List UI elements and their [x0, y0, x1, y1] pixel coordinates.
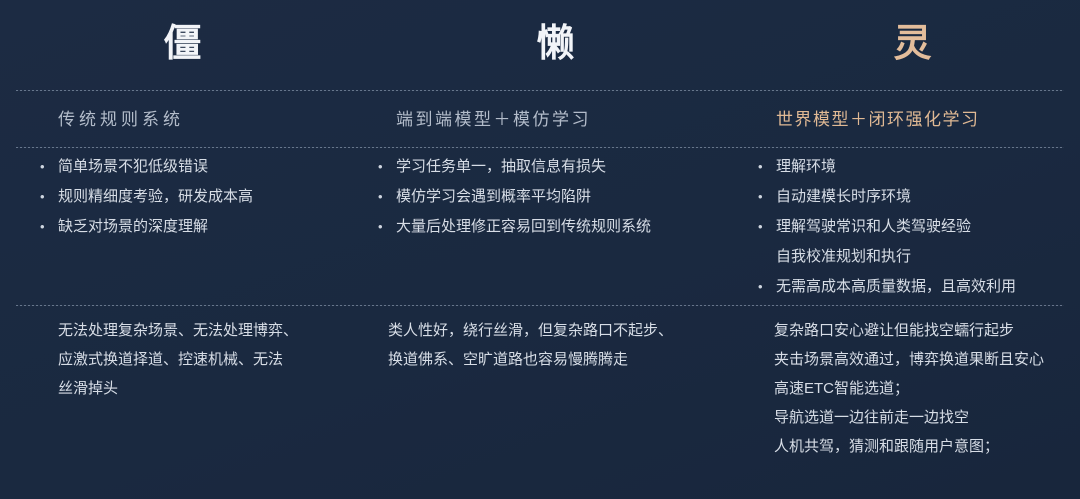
column-subhead-2: 端到端模型＋模仿学习 [366, 100, 746, 144]
bullet-dot-icon: • [378, 152, 396, 182]
summary-line: 换道佛系、空旷道路也容易慢腾腾走 [388, 345, 746, 374]
bullet-list-2: • 学习任务单一，抽取信息有损失 • 模仿学习会遇到概率平均陷阱 • 大量后处理… [366, 152, 746, 302]
summary-line: 导航选道一边往前走一边找空 [774, 403, 1080, 432]
list-item-label: 模仿学习会遇到概率平均陷阱 [396, 182, 591, 212]
bullet-dot-icon: • [758, 272, 776, 302]
list-item: • 大量后处理修正容易回到传统规则系统 [378, 212, 746, 242]
summary-line: 类人性好，绕行丝滑，但复杂路口不起步、 [388, 316, 746, 345]
list-item-continuation: • 自我校准规划和执行 [758, 242, 1080, 272]
list-item: • 模仿学习会遇到概率平均陷阱 [378, 182, 746, 212]
divider-bottom [16, 305, 1064, 306]
column-title-1: 僵 [0, 14, 366, 78]
summary-line: 丝滑掉头 [58, 374, 366, 403]
column-subhead-3: 世界模型＋闭环强化学习 [746, 100, 1080, 144]
list-item: • 自动建模长时序环境 [758, 182, 1080, 212]
column-title-3: 灵 [746, 14, 1080, 78]
summary-line: 高速ETC智能选道； [774, 374, 1080, 403]
bullet-list-3: • 理解环境 • 自动建模长时序环境 • 理解驾驶常识和人类驾驶经验 • 自我校… [746, 152, 1080, 302]
divider-middle [16, 147, 1064, 148]
summary-block-1: 无法处理复杂场景、无法处理博弈、 应激式换道择道、控速机械、无法 丝滑掉头 [0, 316, 366, 496]
bullet-dot-icon: • [378, 212, 396, 242]
summary-block-3: 复杂路口安心避让但能找空蠕行起步 夹击场景高效通过，博弈换道果断且安心 高速ET… [746, 316, 1080, 496]
summary-line: 复杂路口安心避让但能找空蠕行起步 [774, 316, 1080, 345]
list-item-label: 简单场景不犯低级错误 [58, 152, 208, 182]
list-item: • 无需高成本高质量数据，且高效利用 [758, 272, 1080, 302]
list-item-label: 大量后处理修正容易回到传统规则系统 [396, 212, 651, 242]
column-titles-row: 僵 懒 灵 [0, 14, 1080, 78]
list-item-label: 自我校准规划和执行 [776, 242, 911, 272]
slide-root: 僵 懒 灵 传统规则系统 端到端模型＋模仿学习 世界模型＋闭环强化学习 • 简单… [0, 0, 1080, 499]
bullet-dot-icon: • [758, 212, 776, 242]
column-title-2: 懒 [366, 14, 746, 78]
bullet-dot-icon: • [40, 212, 58, 242]
bullet-dot-icon: • [758, 182, 776, 212]
divider-top [16, 90, 1064, 91]
list-item: • 缺乏对场景的深度理解 [40, 212, 366, 242]
summary-block-2: 类人性好，绕行丝滑，但复杂路口不起步、 换道佛系、空旷道路也容易慢腾腾走 [366, 316, 746, 496]
list-item-label: 自动建模长时序环境 [776, 182, 911, 212]
list-item: • 学习任务单一，抽取信息有损失 [378, 152, 746, 182]
list-item: • 简单场景不犯低级错误 [40, 152, 366, 182]
list-item-label: 缺乏对场景的深度理解 [58, 212, 208, 242]
bullet-dot-icon: • [40, 182, 58, 212]
bullet-dot-icon: • [758, 152, 776, 182]
bullet-list-1: • 简单场景不犯低级错误 • 规则精细度考验，研发成本高 • 缺乏对场景的深度理… [0, 152, 366, 302]
list-item-label: 学习任务单一，抽取信息有损失 [396, 152, 606, 182]
list-item-label: 理解环境 [776, 152, 836, 182]
list-item: • 规则精细度考验，研发成本高 [40, 182, 366, 212]
bullet-dot-icon: • [378, 182, 396, 212]
list-item-label: 理解驾驶常识和人类驾驶经验 [776, 212, 971, 242]
summary-line: 应激式换道择道、控速机械、无法 [58, 345, 366, 374]
summary-line: 无法处理复杂场景、无法处理博弈、 [58, 316, 366, 345]
list-item-label: 无需高成本高质量数据，且高效利用 [776, 272, 1016, 302]
bullet-dot-icon: • [40, 152, 58, 182]
summary-line: 夹击场景高效通过，博弈换道果断且安心 [774, 345, 1080, 374]
column-subheads-row: 传统规则系统 端到端模型＋模仿学习 世界模型＋闭环强化学习 [0, 100, 1080, 144]
list-item: • 理解环境 [758, 152, 1080, 182]
summary-line: 人机共驾，猜测和跟随用户意图； [774, 432, 1080, 461]
column-subhead-1: 传统规则系统 [0, 100, 366, 144]
list-item-label: 规则精细度考验，研发成本高 [58, 182, 253, 212]
column-bullets-row: • 简单场景不犯低级错误 • 规则精细度考验，研发成本高 • 缺乏对场景的深度理… [0, 152, 1080, 302]
column-summaries-row: 无法处理复杂场景、无法处理博弈、 应激式换道择道、控速机械、无法 丝滑掉头 类人… [0, 316, 1080, 496]
list-item: • 理解驾驶常识和人类驾驶经验 [758, 212, 1080, 242]
